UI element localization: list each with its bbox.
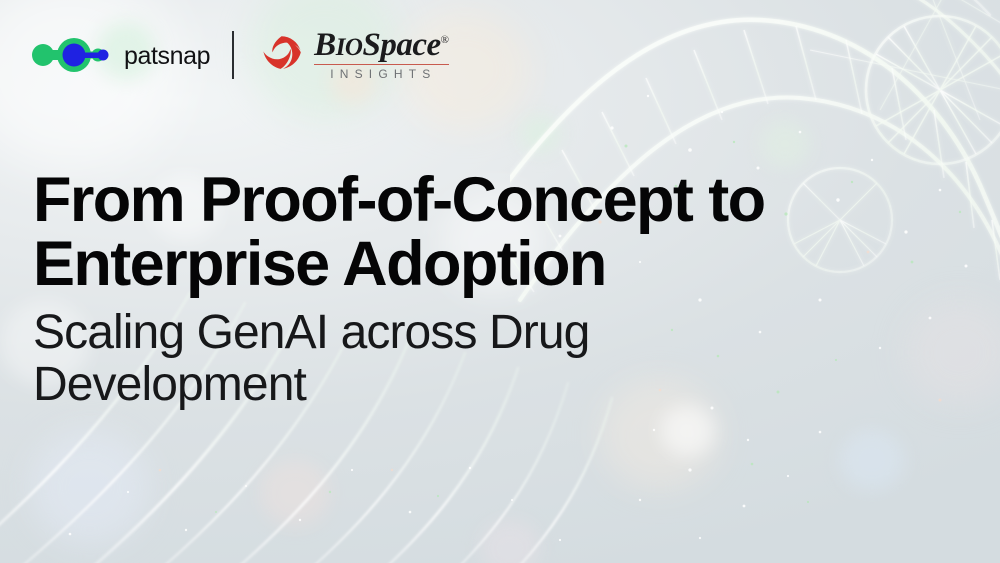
- logo-divider: [232, 31, 234, 79]
- title-slide: patsnap BIOSpace® INSIGHTS From Proof-of…: [0, 0, 1000, 563]
- logo-bar: patsnap BIOSpace® INSIGHTS: [30, 28, 449, 82]
- biospace-tagline: INSIGHTS: [314, 68, 448, 80]
- headline-block: From Proof-of-Concept to Enterprise Adop…: [33, 168, 933, 412]
- page-title: From Proof-of-Concept to Enterprise Adop…: [33, 168, 933, 297]
- page-subtitle: Scaling GenAI across Drug Development: [33, 307, 933, 413]
- registered-trademark-icon: ®: [441, 34, 449, 46]
- biospace-swirl-mark: [258, 34, 304, 76]
- patsnap-molecule-mark: [30, 38, 114, 72]
- patsnap-wordmark: patsnap: [124, 44, 210, 69]
- biospace-logo[interactable]: BIOSpace® INSIGHTS: [258, 30, 448, 80]
- patsnap-logo[interactable]: patsnap: [30, 38, 210, 72]
- biospace-text-block: BIOSpace® INSIGHTS: [314, 30, 448, 80]
- biospace-wordmark: BIOSpace®: [314, 30, 448, 62]
- biospace-rule: [314, 64, 448, 66]
